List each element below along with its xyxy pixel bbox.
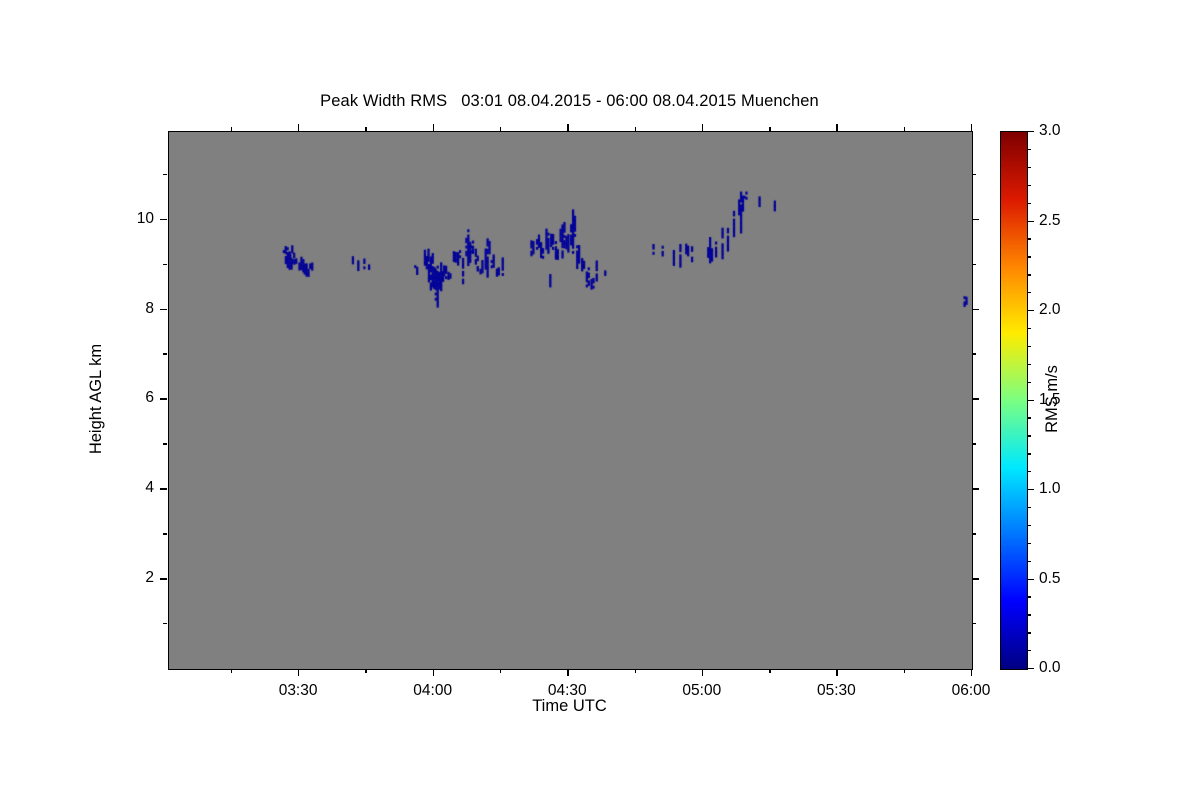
y-tick-major (160, 398, 167, 399)
colorbar-label: RMS m/s (1043, 365, 1062, 433)
x-tick-minor-top (365, 127, 366, 131)
heatmap-data-layer (169, 132, 972, 669)
y-tick-major (160, 219, 167, 220)
y-tick-minor-right (972, 353, 976, 354)
x-tick-major-top (298, 124, 299, 131)
plot-axes-area (168, 131, 973, 670)
x-tick-major-top (433, 124, 434, 131)
x-tick-minor (231, 669, 232, 673)
y-tick-label: 6 (106, 389, 154, 407)
y-tick-minor-right (972, 623, 976, 624)
y-tick-major (160, 309, 167, 310)
x-tick-minor (365, 669, 366, 673)
x-tick-minor (635, 669, 636, 673)
colorbar-gradient (1001, 132, 1027, 669)
x-tick-minor-top (635, 127, 636, 131)
x-tick-minor (769, 669, 770, 673)
colorbar-tick-major (1027, 668, 1034, 669)
y-tick-minor-right (972, 533, 976, 534)
colorbar-tick-label: 1.0 (1039, 480, 1061, 498)
x-tick-major (567, 669, 568, 676)
colorbar-tick-major (1027, 310, 1034, 311)
colorbar-tick-label: 3.0 (1039, 122, 1061, 140)
colorbar (1000, 131, 1028, 670)
x-tick-minor-top (904, 127, 905, 131)
y-tick-minor (163, 353, 167, 354)
y-tick-minor (163, 264, 167, 265)
colorbar-tick-label: 2.5 (1039, 212, 1061, 230)
y-tick-major-right (972, 219, 979, 220)
x-tick-minor (500, 669, 501, 673)
y-tick-major-right (972, 578, 979, 579)
x-tick-major (836, 669, 837, 676)
x-tick-major (971, 669, 972, 676)
y-tick-minor (163, 443, 167, 444)
y-tick-label: 4 (106, 479, 154, 497)
x-tick-minor (904, 669, 905, 673)
x-tick-major-top (971, 124, 972, 131)
x-tick-major-top (567, 124, 568, 131)
x-tick-major (702, 669, 703, 676)
colorbar-tick-major (1027, 489, 1034, 490)
y-tick-major-right (972, 488, 979, 489)
colorbar-tick-major (1027, 221, 1034, 222)
y-tick-label: 2 (106, 569, 154, 587)
y-tick-major (160, 578, 167, 579)
page-title: Peak Width RMS 03:01 08.04.2015 - 06:00 … (168, 92, 971, 111)
y-tick-label: 8 (106, 300, 154, 318)
x-tick-major (298, 669, 299, 676)
x-axis-label: Time UTC (168, 697, 971, 716)
y-axis-label: Height AGL km (87, 344, 106, 454)
colorbar-tick-major (1027, 131, 1034, 132)
y-tick-label: 10 (106, 210, 154, 228)
colorbar-tick-label: 0.0 (1039, 659, 1061, 677)
x-tick-minor-top (231, 127, 232, 131)
y-tick-minor-right (972, 174, 976, 175)
colorbar-tick-label: 2.0 (1039, 301, 1061, 319)
y-tick-minor-right (972, 443, 976, 444)
y-tick-major-right (972, 398, 979, 399)
x-tick-major (433, 669, 434, 676)
y-tick-minor (163, 623, 167, 624)
x-tick-minor-top (500, 127, 501, 131)
colorbar-tick-label: 0.5 (1039, 570, 1061, 588)
y-tick-minor (163, 174, 167, 175)
y-tick-minor-right (972, 264, 976, 265)
colorbar-tick-major (1027, 579, 1034, 580)
y-tick-major (160, 488, 167, 489)
figure-canvas: Peak Width RMS 03:01 08.04.2015 - 06:00 … (0, 0, 1200, 800)
colorbar-tick-major (1027, 400, 1034, 401)
x-tick-minor-top (769, 127, 770, 131)
y-tick-minor (163, 533, 167, 534)
x-tick-major-top (836, 124, 837, 131)
y-tick-major-right (972, 309, 979, 310)
x-tick-major-top (702, 124, 703, 131)
